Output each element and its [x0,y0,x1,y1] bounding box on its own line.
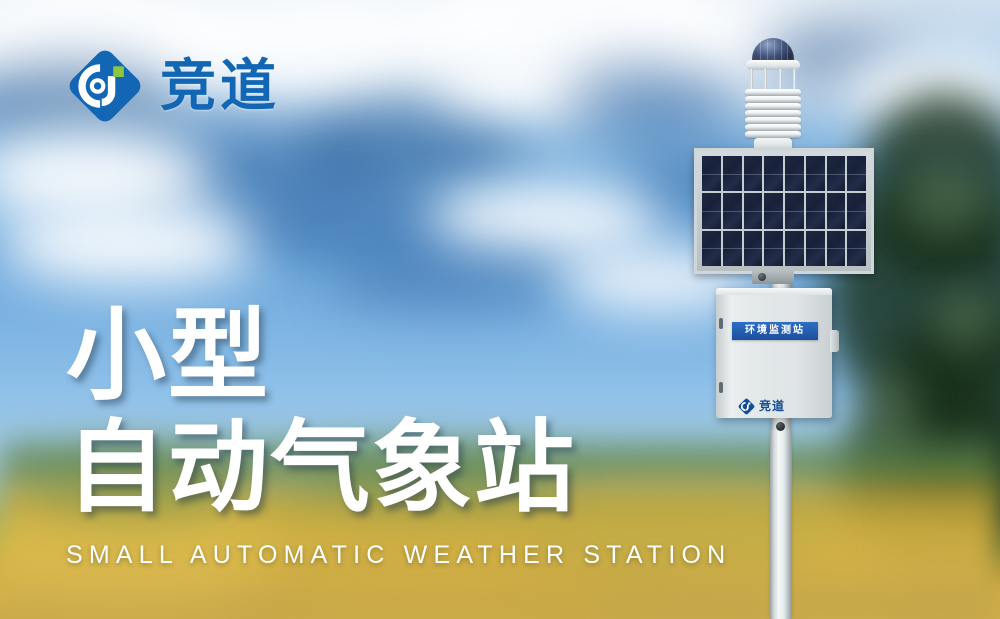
page-title: 小型自动气象站 [66,300,576,524]
page-subtitle: SMALL AUTOMATIC WEATHER STATION [66,541,731,570]
jingdao-diamond-logo-icon [738,398,755,415]
brand-name: 竞道 [160,58,280,114]
enclosure-top-edge [716,288,832,295]
cloud-shape [240,190,460,260]
enclosure-brand-name: 竞道 [759,400,785,412]
solar-panel [694,148,874,274]
support-pole-lower [770,430,792,619]
brand-logo: 竞道 [64,45,280,127]
radiation-shield [745,89,801,141]
tree-highlight [930,290,1000,350]
enclosure-vent [719,318,723,329]
enclosure-brand-logo: 竞道 [738,397,816,415]
cloud-shape [430,185,660,255]
solar-cell-grid [702,156,866,266]
page-title-line-2: 自动气象站 [66,412,576,524]
weather-station-device: 环境监测站 竞道 [690,30,890,619]
mount-bolt [758,273,766,281]
jingdao-diamond-logo-icon [64,45,146,127]
page-title-line-1: 小型 [66,300,270,412]
cloud-shape [0,205,260,285]
enclosure-label-text: 环境监测站 [745,326,805,336]
weather-station-product-banner: 竞道 小型自动气象站 SMALL AUTOMATIC WEATHER STATI… [0,0,1000,619]
enclosure-vent [719,382,723,393]
sensor-posts [748,69,798,91]
tree-highlight [900,165,990,235]
enclosure-side-tab [830,330,839,352]
enclosure-left-bevel [716,288,730,418]
enclosure-bottom-bolt [776,422,785,431]
enclosure-label-banner: 环境监测站 [732,322,818,340]
